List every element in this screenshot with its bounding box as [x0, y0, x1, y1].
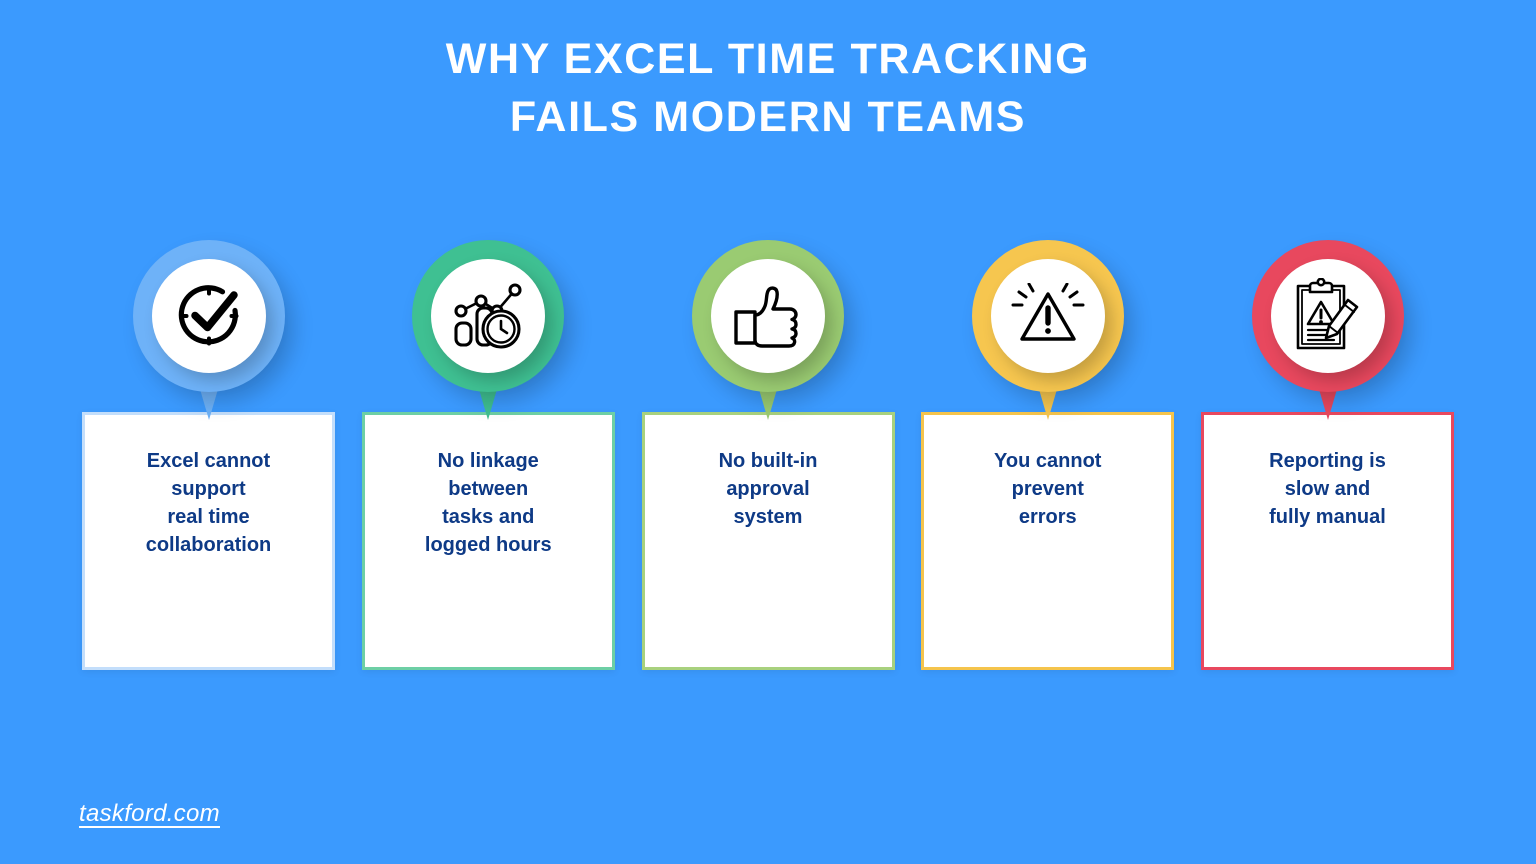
card-line: slow and: [1216, 475, 1439, 503]
card-line: Excel cannot: [97, 447, 320, 475]
pin-marker-4: [972, 240, 1124, 416]
pin-marker-3: [692, 240, 844, 416]
card-line: logged hours: [377, 531, 600, 559]
bar-chart-clock-icon: [450, 281, 526, 351]
card-line: prevent: [936, 475, 1159, 503]
card-line: errors: [936, 503, 1159, 531]
card-text-5: Reporting is slow and fully manual: [1204, 447, 1451, 531]
card-box-3[interactable]: No built-in approval system: [642, 412, 895, 670]
pin-marker-1: [133, 240, 285, 416]
page-title: WHY EXCEL TIME TRACKING FAILS MODERN TEA…: [0, 30, 1536, 146]
card-line: tasks and: [377, 503, 600, 531]
card-item-2: No linkage between tasks and logged hour…: [362, 240, 615, 670]
thumbs-up-icon: [732, 282, 804, 350]
card-line: real time: [97, 503, 320, 531]
warning-triangle-icon: [1009, 283, 1087, 349]
card-box-5[interactable]: Reporting is slow and fully manual: [1201, 412, 1454, 670]
icon-circle-2: [431, 259, 545, 373]
card-line: system: [657, 503, 880, 531]
icon-circle-1: [152, 259, 266, 373]
card-box-4[interactable]: You cannot prevent errors: [921, 412, 1174, 670]
card-line: No built-in: [657, 447, 880, 475]
card-item-4: You cannot prevent errors: [921, 240, 1174, 670]
card-line: Reporting is: [1216, 447, 1439, 475]
card-item-5: Reporting is slow and fully manual: [1201, 240, 1454, 670]
card-box-1[interactable]: Excel cannot support real time collabora…: [82, 412, 335, 670]
cards-row: Excel cannot support real time collabora…: [82, 240, 1454, 670]
pin-marker-5: [1252, 240, 1404, 416]
pin-marker-2: [412, 240, 564, 416]
card-line: No linkage: [377, 447, 600, 475]
card-line: collaboration: [97, 531, 320, 559]
card-line: between: [377, 475, 600, 503]
icon-circle-4: [991, 259, 1105, 373]
page-title-line-2: FAILS MODERN TEAMS: [0, 88, 1536, 146]
icon-circle-3: [711, 259, 825, 373]
card-box-2[interactable]: No linkage between tasks and logged hour…: [362, 412, 615, 670]
footer-website-link[interactable]: taskford.com: [79, 800, 220, 828]
card-text-4: You cannot prevent errors: [924, 447, 1171, 531]
card-line: fully manual: [1216, 503, 1439, 531]
clipboard-alert-pencil-icon: [1292, 278, 1364, 354]
card-line: You cannot: [936, 447, 1159, 475]
icon-circle-5: [1271, 259, 1385, 373]
card-text-3: No built-in approval system: [645, 447, 892, 531]
card-line: approval: [657, 475, 880, 503]
card-line: support: [97, 475, 320, 503]
card-text-2: No linkage between tasks and logged hour…: [365, 447, 612, 559]
page-title-line-1: WHY EXCEL TIME TRACKING: [0, 30, 1536, 88]
card-text-1: Excel cannot support real time collabora…: [85, 447, 332, 559]
card-item-1: Excel cannot support real time collabora…: [82, 240, 335, 670]
card-item-3: No built-in approval system: [642, 240, 895, 670]
clock-check-icon: [172, 279, 246, 353]
